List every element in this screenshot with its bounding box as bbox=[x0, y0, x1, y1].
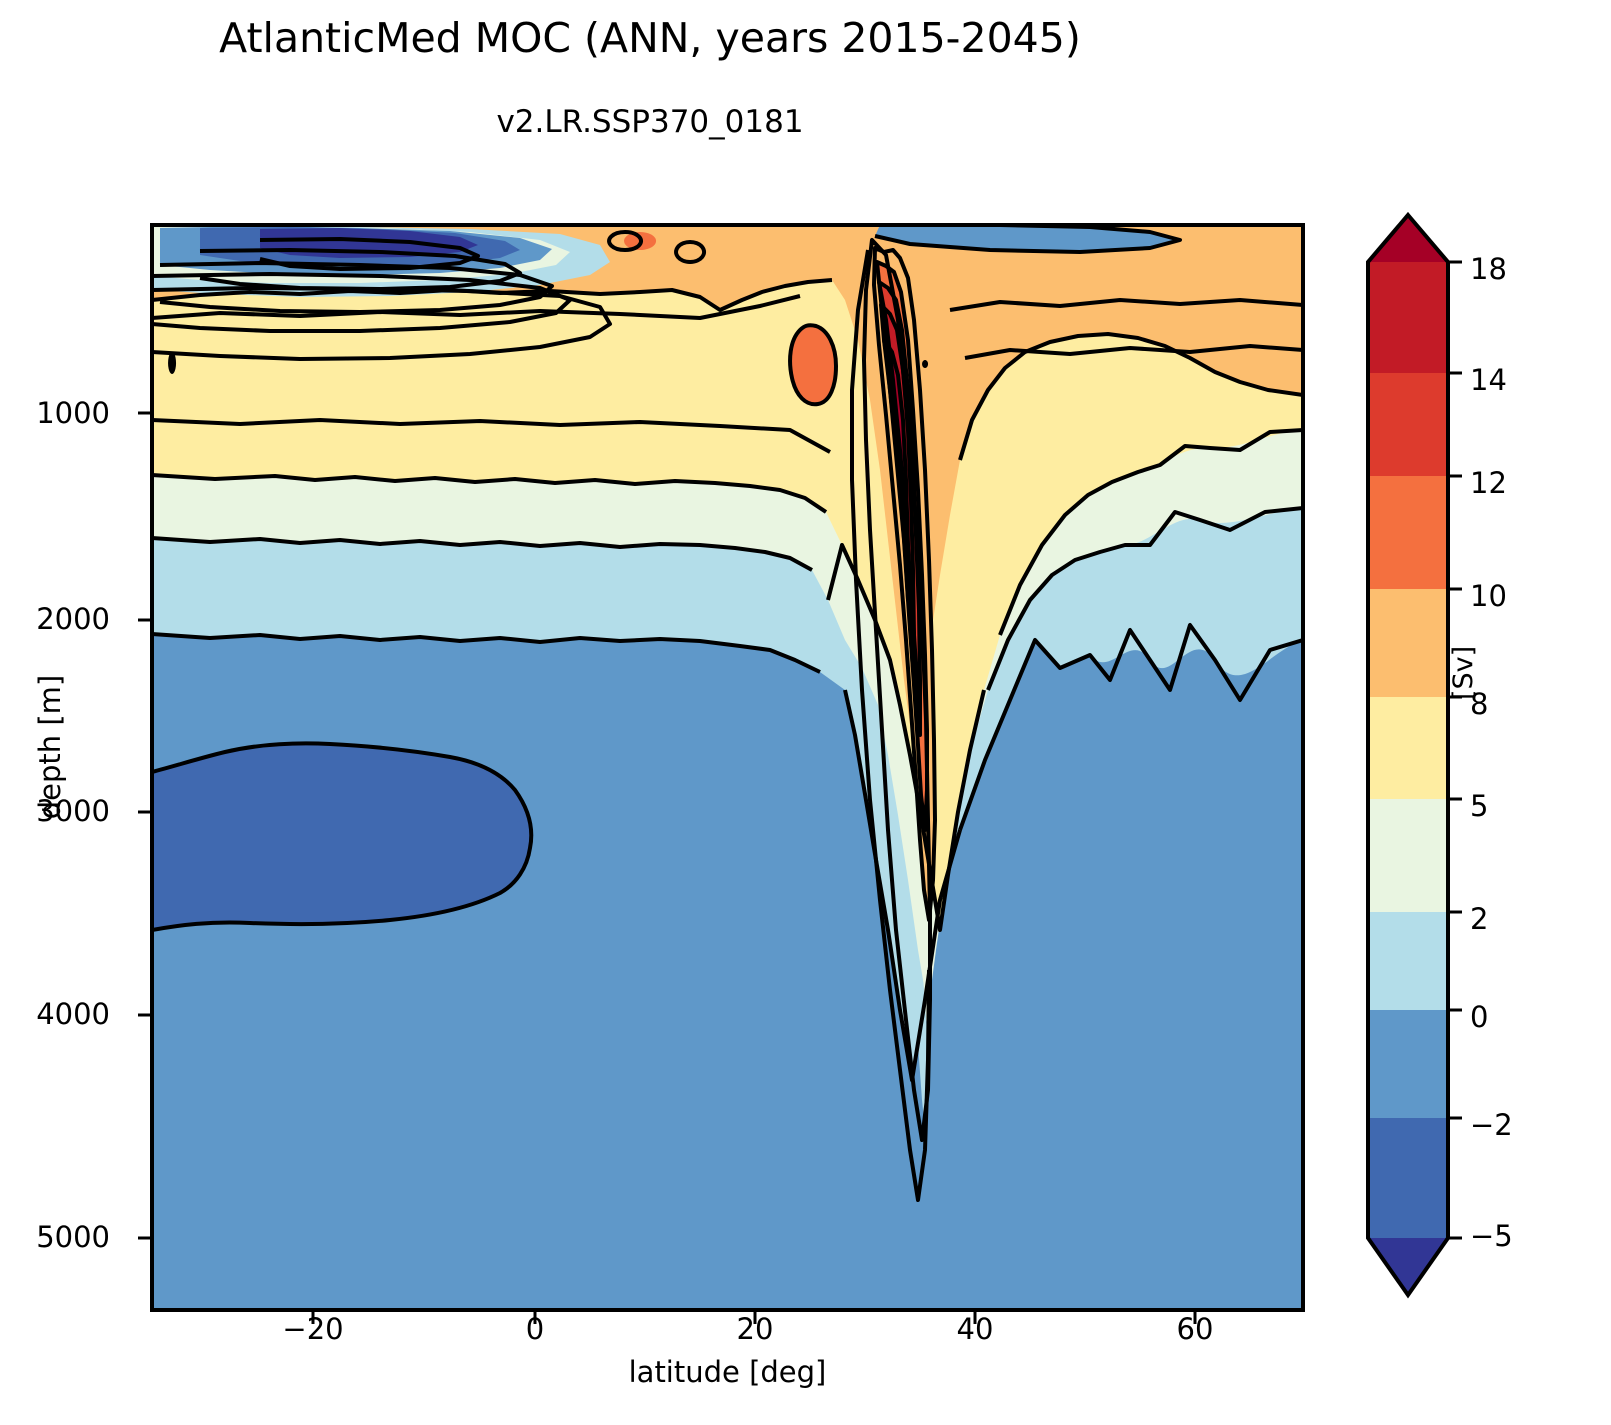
colorbar-band-14-18 bbox=[1368, 262, 1448, 373]
aabw-satellite-dot bbox=[515, 810, 525, 822]
colorbar-band-10-12 bbox=[1368, 476, 1448, 589]
figure-root: AtlanticMed MOC (ANN, years 2015-2045) v… bbox=[0, 0, 1611, 1425]
east-black-dot bbox=[922, 360, 928, 368]
colorbar-band-n2-0 bbox=[1368, 1010, 1448, 1118]
colorbar-band-2-5 bbox=[1368, 799, 1448, 912]
colorbar-band-0-2 bbox=[1368, 912, 1448, 1010]
colorbar-band-5-8 bbox=[1368, 697, 1448, 799]
colorbar-under-arrow bbox=[1368, 1238, 1448, 1295]
contour-field bbox=[152, 225, 1303, 1310]
colorbar bbox=[1368, 215, 1462, 1295]
plot-svg bbox=[0, 0, 1611, 1425]
colorbar-over-arrow bbox=[1368, 215, 1448, 262]
colorbar-band-n5-n2 bbox=[1368, 1118, 1448, 1238]
colorbar-band-8-10 bbox=[1368, 589, 1448, 697]
colorbar-ticks bbox=[1448, 262, 1462, 1238]
colorbar-band-12-14 bbox=[1368, 373, 1448, 476]
